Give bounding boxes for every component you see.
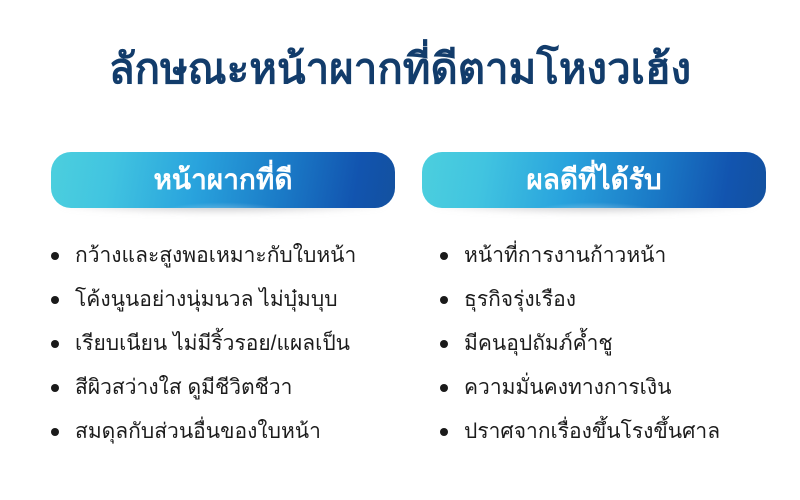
column-header-right: ผลดีที่ได้รับ (422, 152, 766, 208)
list-item-label: หน้าที่การงานก้าวหน้า (464, 242, 666, 270)
list-item: สีผิวสว่างใส ดูมีชีวิตชีวา (51, 366, 411, 410)
infographic-root: ลักษณะหน้าผากที่ดีตามโหงวเฮ้ง หน้าผากที่… (0, 0, 800, 500)
list-item: มีคนอุปถัมภ์ค้ำชู (440, 322, 800, 366)
bullet-list-right: หน้าที่การงานก้าวหน้า ธุรกิจรุ่งเรือง มี… (440, 234, 800, 454)
header-pill-left-label: หน้าผากที่ดี (51, 152, 395, 208)
bullet-dot-icon (51, 296, 59, 304)
bullet-dot-icon (440, 340, 448, 348)
list-item-label: โค้งนูนอย่างนุ่มนวล ไม่บุ๋มบุบ (75, 286, 338, 314)
list-item-label: ปราศจากเรื่องขึ้นโรงขึ้นศาล (464, 418, 720, 446)
bullet-dot-icon (51, 428, 59, 436)
list-item: หน้าที่การงานก้าวหน้า (440, 234, 800, 278)
list-item-label: กว้างและสูงพอเหมาะกับใบหน้า (75, 242, 356, 270)
list-item: กว้างและสูงพอเหมาะกับใบหน้า (51, 234, 411, 278)
list-item: ธุรกิจรุ่งเรือง (440, 278, 800, 322)
bullet-dot-icon (440, 252, 448, 260)
column-benefits: ผลดีที่ได้รับ หน้าที่การงานก้าวหน้า ธุรก… (422, 152, 766, 208)
list-item-label: เรียบเนียน ไม่มีริ้วรอย/แผลเป็น (75, 330, 350, 358)
bullet-list-left: กว้างและสูงพอเหมาะกับใบหน้า โค้งนูนอย่าง… (51, 234, 411, 454)
list-item-label: ธุรกิจรุ่งเรือง (464, 286, 576, 314)
list-item: สมดุลกับส่วนอื่นของใบหน้า (51, 410, 411, 454)
column-header-left: หน้าผากที่ดี (51, 152, 395, 208)
comparison-columns: หน้าผากที่ดี กว้างและสูงพอเหมาะกับใบหน้า… (0, 152, 800, 472)
bullet-dot-icon (51, 384, 59, 392)
list-item-label: ความมั่นคงทางการเงิน (464, 374, 671, 402)
column-good-forehead: หน้าผากที่ดี กว้างและสูงพอเหมาะกับใบหน้า… (51, 152, 395, 208)
bullet-dot-icon (440, 296, 448, 304)
bullet-dot-icon (51, 340, 59, 348)
list-item: ความมั่นคงทางการเงิน (440, 366, 800, 410)
list-item-label: สมดุลกับส่วนอื่นของใบหน้า (75, 418, 321, 446)
bullet-dot-icon (440, 384, 448, 392)
header-pill-right-label: ผลดีที่ได้รับ (422, 152, 766, 208)
list-item-label: มีคนอุปถัมภ์ค้ำชู (464, 330, 613, 358)
list-item-label: สีผิวสว่างใส ดูมีชีวิตชีวา (75, 374, 292, 402)
list-item: โค้งนูนอย่างนุ่มนวล ไม่บุ๋มบุบ (51, 278, 411, 322)
page-title: ลักษณะหน้าผากที่ดีตามโหงวเฮ้ง (0, 42, 800, 96)
list-item: เรียบเนียน ไม่มีริ้วรอย/แผลเป็น (51, 322, 411, 366)
bullet-dot-icon (51, 252, 59, 260)
header-pill-right: ผลดีที่ได้รับ (422, 152, 766, 208)
list-item: ปราศจากเรื่องขึ้นโรงขึ้นศาล (440, 410, 800, 454)
header-pill-left: หน้าผากที่ดี (51, 152, 395, 208)
bullet-dot-icon (440, 428, 448, 436)
